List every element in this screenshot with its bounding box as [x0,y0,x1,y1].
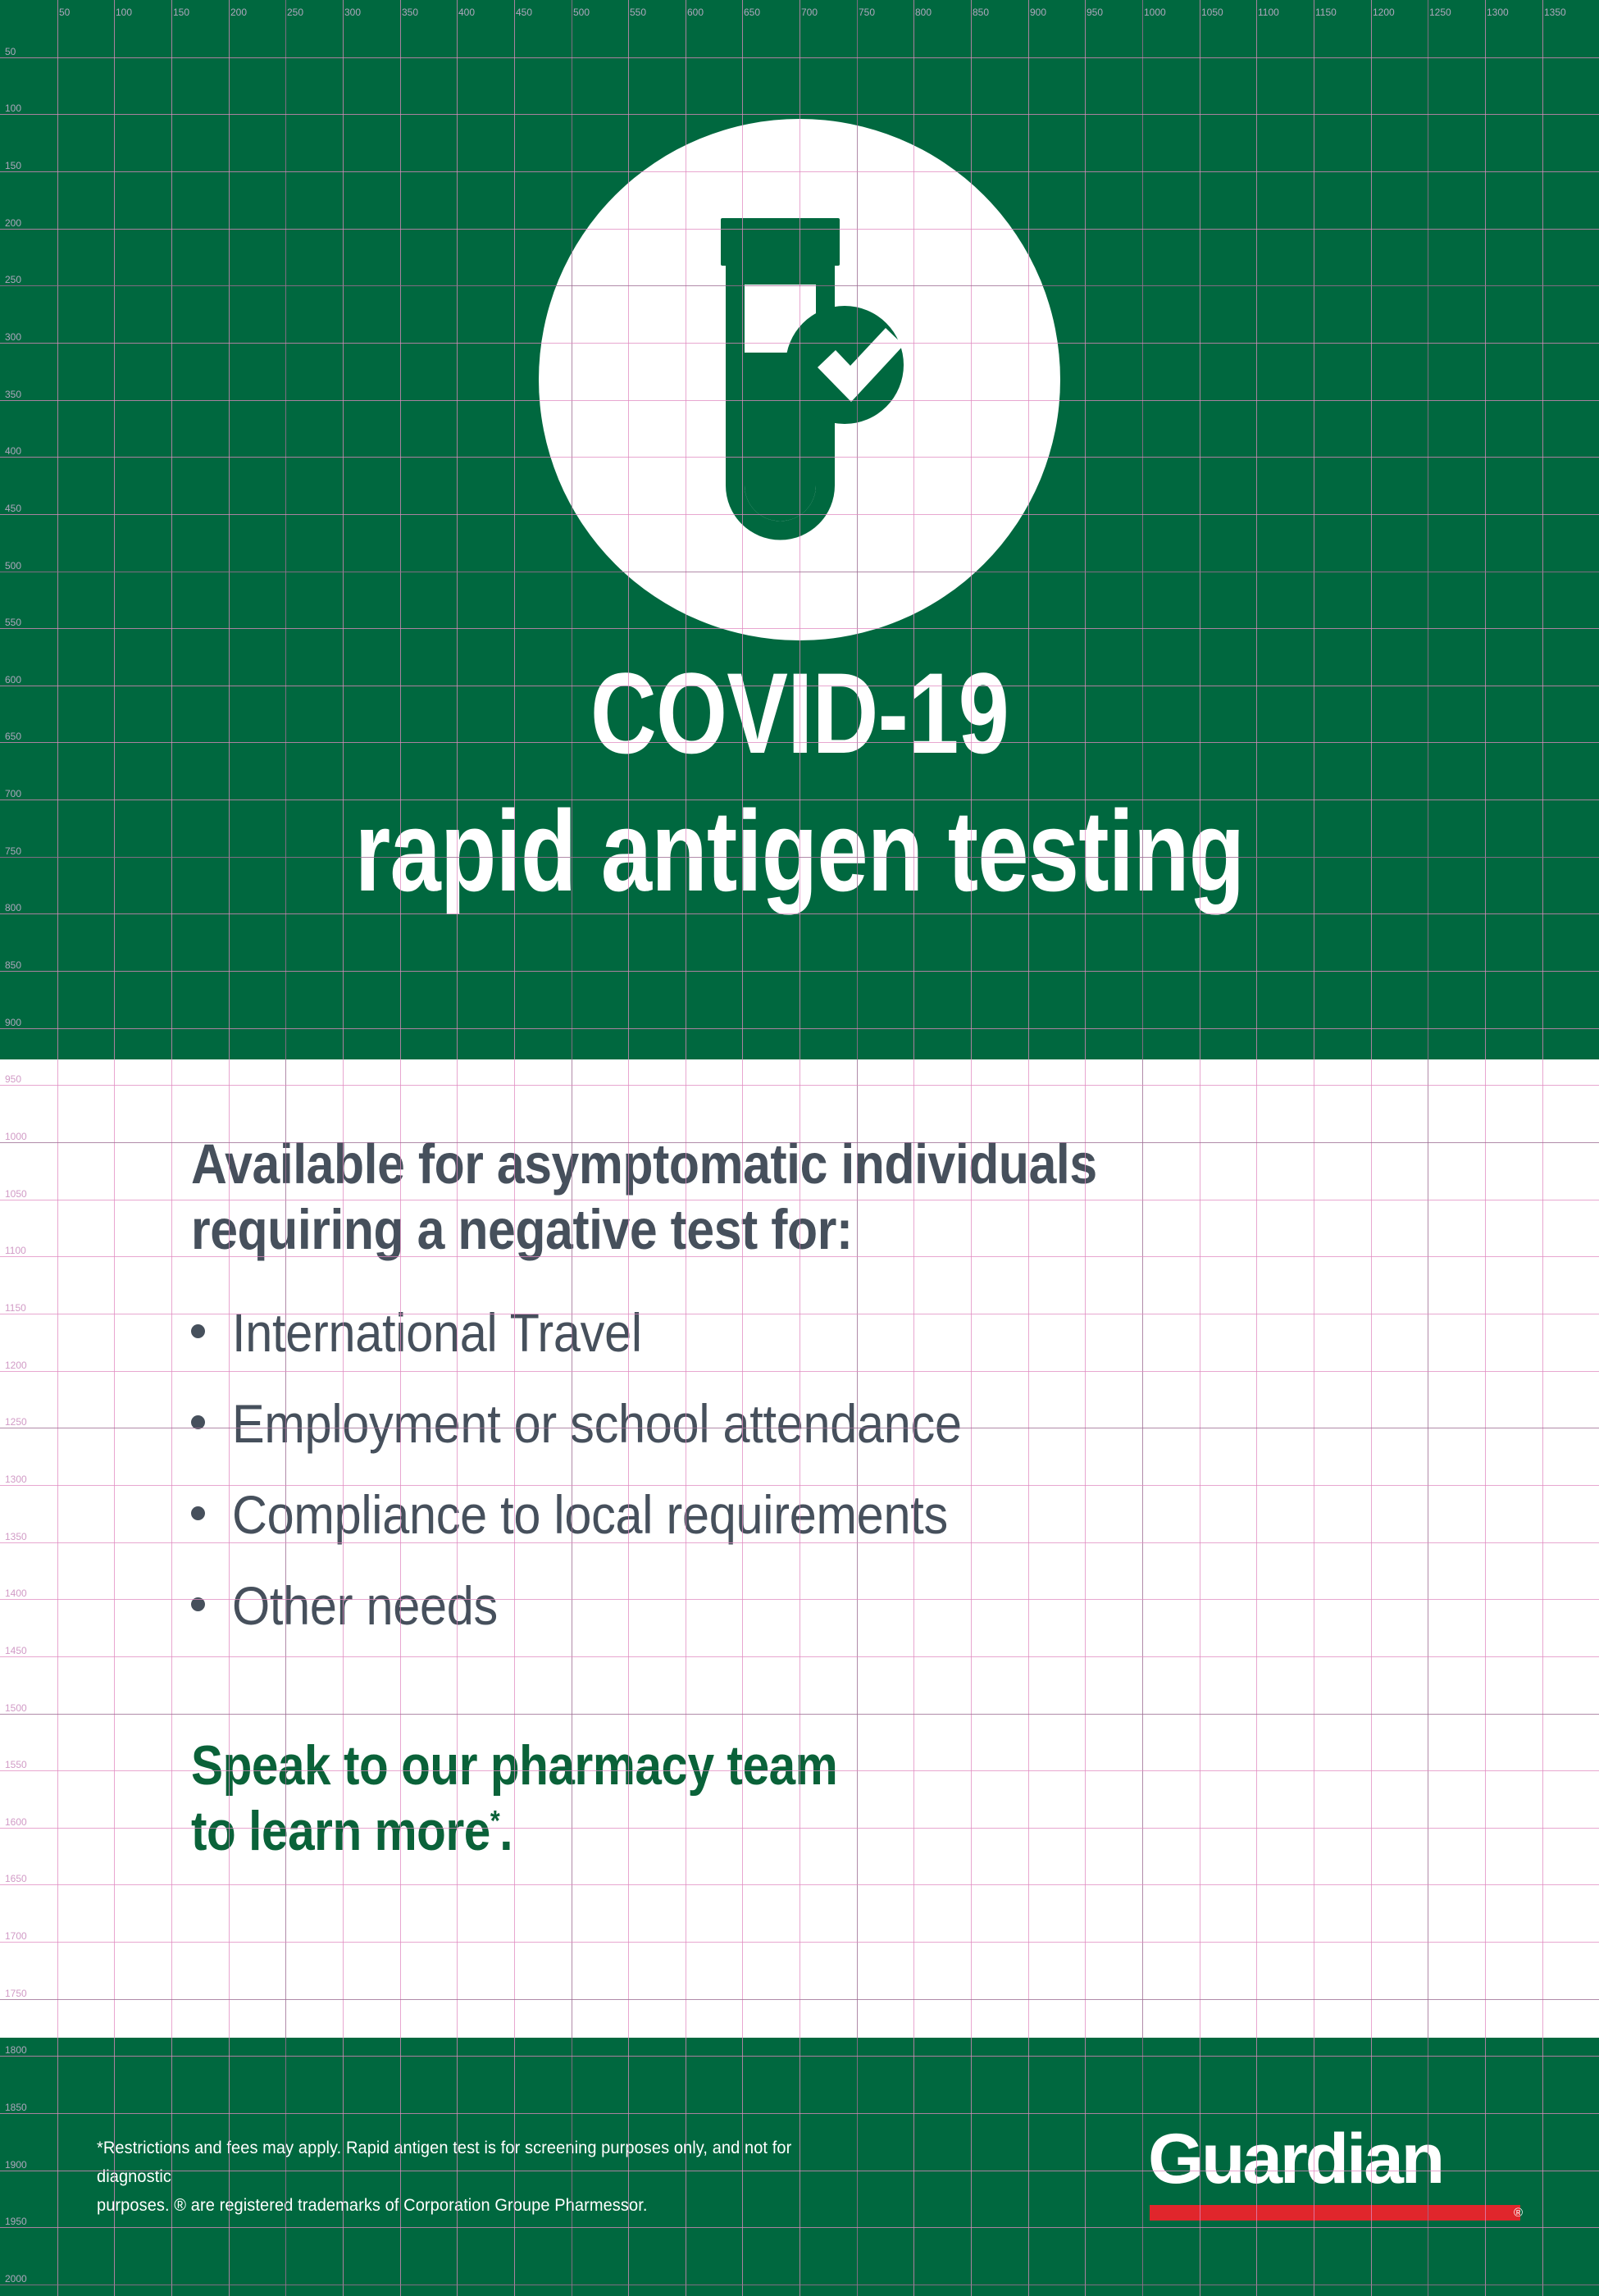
lead-line-1: Available for asymptomatic individuals [191,1132,1474,1197]
footnote-line-1: *Restrictions and fees may apply. Rapid … [97,2134,867,2191]
list-item-label: International Travel [232,1305,642,1360]
poster-body: Available for asymptomatic individuals r… [191,1132,1470,1865]
legal-footnote: *Restrictions and fees may apply. Rapid … [97,2134,867,2219]
eligibility-list: International Travel Employment or schoo… [191,1305,1470,1633]
guardian-logo-wordmark: Guardian [1148,2126,1533,2193]
registered-trademark-icon: ® [1514,2206,1523,2221]
guardian-logo-red-bar [1150,2205,1520,2221]
cta-line-2: to learn more*. [191,1798,1489,1864]
cta-line-1: Speak to our pharmacy team [191,1733,1489,1798]
list-item: Compliance to local requirements [191,1487,1470,1542]
cta-asterisk: * [490,1806,499,1838]
list-item-label: Employment or school attendance [232,1396,962,1451]
cta-period: . [499,1800,512,1862]
headline-line-2: rapid antigen testing [160,794,1439,909]
poster-headline: COVID-19 rapid antigen testing [160,656,1439,909]
bullet-dot-icon [191,1597,205,1611]
list-item: Other needs [191,1578,1470,1633]
guardian-logo: Guardian ® [1148,2126,1525,2233]
list-item: Employment or school attendance [191,1396,1470,1451]
bullet-dot-icon [191,1415,205,1429]
poster-canvas: COVID-19 rapid antigen testing Available… [0,0,1599,2296]
lead-line-2: requiring a negative test for: [191,1197,1474,1263]
test-tube-with-checkmark-icon [539,119,1060,640]
bullet-dot-icon [191,1324,205,1338]
cta-line-2-text: to learn more [191,1800,490,1862]
list-item: International Travel [191,1305,1470,1360]
headline-line-1: COVID-19 [160,656,1439,771]
footnote-line-2: purposes. ® are registered trademarks of… [97,2191,867,2220]
list-item-label: Other needs [232,1578,498,1633]
call-to-action: Speak to our pharmacy team to learn more… [191,1733,1489,1864]
list-item-label: Compliance to local requirements [232,1487,948,1542]
bullet-dot-icon [191,1506,205,1520]
lead-paragraph: Available for asymptomatic individuals r… [191,1132,1474,1263]
